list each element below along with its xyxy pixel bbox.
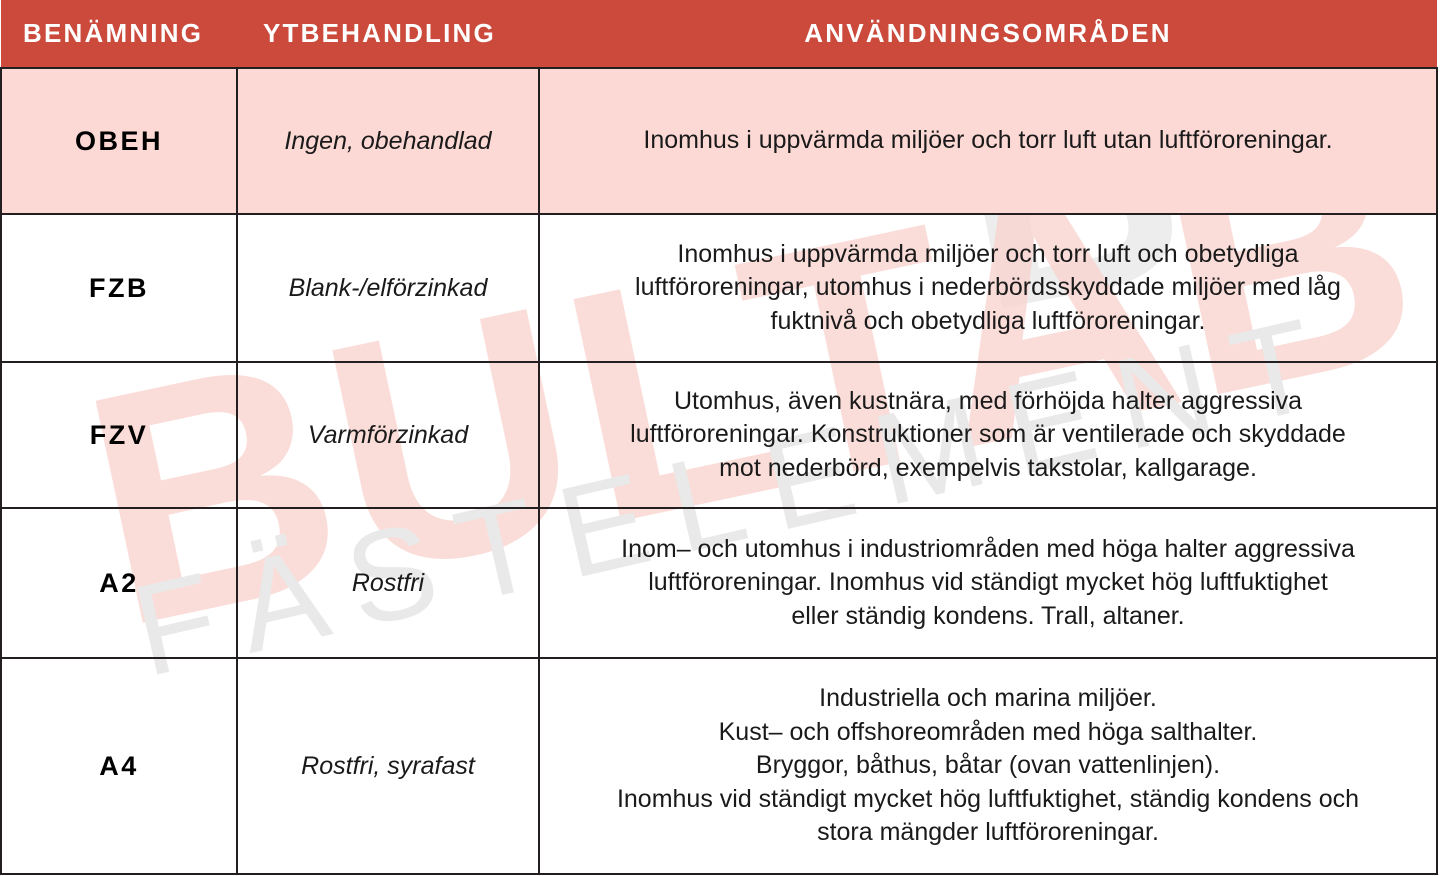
cell-treatment: Rostfri, syrafast — [237, 658, 539, 874]
column-header-ytbehandling: YTBEHANDLING — [237, 0, 539, 68]
usage-line: luftföroreningar. Konstruktioner som är … — [558, 418, 1418, 452]
usage-line: Industriella och marina miljöer. — [558, 682, 1418, 716]
usage-line: Inomhus i uppvärmda miljöer och torr luf… — [558, 238, 1418, 272]
table-row: A4 Rostfri, syrafast Industriella och ma… — [1, 658, 1437, 874]
cell-treatment: Ingen, obehandlad — [237, 68, 539, 214]
usage-line: luftföroreningar, utomhus i nederbördssk… — [558, 271, 1418, 305]
table-row: A2 Rostfri Inom– och utomhus i industrio… — [1, 508, 1437, 658]
usage-line: Inomhus i uppvärmda miljöer och torr luf… — [558, 124, 1418, 158]
cell-usage: Utomhus, även kustnära, med förhöjda hal… — [539, 362, 1437, 508]
usage-line: mot nederbörd, exempelvis takstolar, kal… — [558, 452, 1418, 486]
table-header: BENÄMNING YTBEHANDLING ANVÄNDNINGSOMRÅDE… — [1, 0, 1437, 68]
cell-usage: Inomhus i uppvärmda miljöer och torr luf… — [539, 214, 1437, 362]
usage-line: Utomhus, även kustnära, med förhöjda hal… — [558, 385, 1418, 419]
usage-line: luftföroreningar. Inomhus vid ständigt m… — [558, 566, 1418, 600]
usage-line: fuktnivå och obetydliga luftföroreningar… — [558, 305, 1418, 339]
usage-line: Inom– och utomhus i industriområden med … — [558, 533, 1418, 567]
surface-treatment-table-page: B BULTAB FÄSTELEMENT BENÄMNING YTBEHANDL… — [0, 0, 1442, 876]
cell-usage: Inomhus i uppvärmda miljöer och torr luf… — [539, 68, 1437, 214]
cell-code: OBEH — [1, 68, 237, 214]
column-header-anvandningsomraden: ANVÄNDNINGSOMRÅDEN — [539, 0, 1437, 68]
usage-line: eller ständig kondens. Trall, altaner. — [558, 600, 1418, 634]
usage-line: Inomhus vid ständigt mycket hög luftfukt… — [558, 783, 1418, 817]
usage-line: Kust– och offshoreområden med höga salth… — [558, 716, 1418, 750]
usage-line: Bryggor, båthus, båtar (ovan vattenlinje… — [558, 749, 1418, 783]
table-row: FZB Blank-/elförzinkad Inomhus i uppvärm… — [1, 214, 1437, 362]
cell-code: A4 — [1, 658, 237, 874]
table-body: OBEH Ingen, obehandlad Inomhus i uppvärm… — [1, 68, 1437, 874]
cell-code: FZB — [1, 214, 237, 362]
usage-line: stora mängder luftföroreningar. — [558, 816, 1418, 850]
cell-treatment: Rostfri — [237, 508, 539, 658]
cell-usage: Inom– och utomhus i industriområden med … — [539, 508, 1437, 658]
cell-code: FZV — [1, 362, 237, 508]
column-header-benamning: BENÄMNING — [1, 0, 237, 68]
cell-code: A2 — [1, 508, 237, 658]
table-row: OBEH Ingen, obehandlad Inomhus i uppvärm… — [1, 68, 1437, 214]
cell-treatment: Varmförzinkad — [237, 362, 539, 508]
cell-usage: Industriella och marina miljöer. Kust– o… — [539, 658, 1437, 874]
table-header-row: BENÄMNING YTBEHANDLING ANVÄNDNINGSOMRÅDE… — [1, 0, 1437, 68]
cell-treatment: Blank-/elförzinkad — [237, 214, 539, 362]
surface-treatment-table: BENÄMNING YTBEHANDLING ANVÄNDNINGSOMRÅDE… — [0, 0, 1438, 875]
table-row: FZV Varmförzinkad Utomhus, även kustnära… — [1, 362, 1437, 508]
